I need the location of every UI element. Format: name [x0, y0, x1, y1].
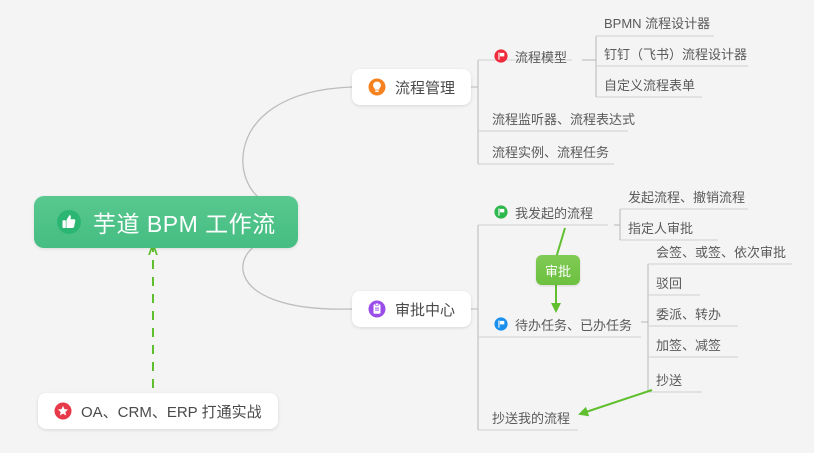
branch-node-process-management-label: 流程管理 [395, 77, 455, 98]
node-reject[interactable]: 驳回 [652, 270, 686, 294]
connector-root-to-approval-center [243, 238, 352, 309]
node-add-remove-sign[interactable]: 加签、减签 [652, 332, 725, 356]
node-cc-to-me-process[interactable]: 抄送我的流程 [488, 405, 574, 429]
node-designated-approver-label: 指定人审批 [628, 218, 693, 237]
node-custom-process-form-label: 自定义流程表单 [604, 75, 695, 94]
node-my-initiated-process-label: 我发起的流程 [515, 203, 593, 222]
callout-node-label: OA、CRM、ERP 打通实战 [81, 401, 262, 422]
lightbulb-icon [368, 78, 386, 96]
node-reject-label: 驳回 [656, 273, 682, 292]
node-start-cancel-process[interactable]: 发起流程、撤销流程 [624, 184, 749, 208]
thumbs-up-icon [56, 209, 82, 235]
branch-node-approval-center[interactable]: 审批中心 [352, 291, 471, 327]
root-node[interactable]: 芋道 BPM 工作流 [34, 196, 298, 248]
node-designated-approver[interactable]: 指定人审批 [624, 215, 697, 239]
flag-icon [494, 205, 508, 219]
mindmap-canvas: 芋道 BPM 工作流 OA、CRM、ERP 打通实战 流程管理 [0, 0, 814, 453]
root-node-label: 芋道 BPM 工作流 [93, 205, 276, 239]
arrow-cc-to-ccmine [580, 390, 652, 414]
annotation-tag-approval-label: 审批 [545, 261, 571, 280]
flag-icon [494, 49, 508, 63]
clipboard-icon [368, 300, 386, 318]
node-process-listener-expression-label: 流程监听器、流程表达式 [492, 109, 635, 128]
flag-icon [494, 317, 508, 331]
node-bpmn-designer[interactable]: BPMN 流程设计器 [600, 10, 714, 34]
branch-node-approval-center-label: 审批中心 [395, 299, 455, 320]
node-delegate-transfer[interactable]: 委派、转办 [652, 301, 725, 325]
node-start-cancel-process-label: 发起流程、撤销流程 [628, 187, 745, 206]
node-cc-label: 抄送 [656, 370, 682, 389]
node-add-remove-sign-label: 加签、减签 [656, 335, 721, 354]
node-process-listener-expression[interactable]: 流程监听器、流程表达式 [488, 106, 639, 130]
node-dingtalk-feishu-designer-label: 钉钉（飞书）流程设计器 [604, 44, 747, 63]
arrow-initiated-to-approval [556, 228, 565, 258]
node-custom-process-form[interactable]: 自定义流程表单 [600, 72, 699, 96]
annotation-tag-approval[interactable]: 审批 [536, 255, 580, 285]
node-process-model-label: 流程模型 [515, 47, 567, 66]
node-cc[interactable]: 抄送 [652, 367, 686, 391]
node-process-instance-task[interactable]: 流程实例、流程任务 [488, 139, 613, 163]
branch-node-process-management[interactable]: 流程管理 [352, 69, 471, 105]
node-cc-to-me-process-label: 抄送我的流程 [492, 408, 570, 427]
node-todo-done-tasks[interactable]: 待办任务、已办任务 [490, 312, 636, 336]
node-countersign-orsign-sequential-label: 会签、或签、依次审批 [656, 242, 786, 261]
node-bpmn-designer-label: BPMN 流程设计器 [604, 13, 710, 32]
connector-root-to-process-management [243, 87, 352, 206]
node-process-instance-task-label: 流程实例、流程任务 [492, 142, 609, 161]
node-todo-done-tasks-label: 待办任务、已办任务 [515, 315, 632, 334]
node-process-model[interactable]: 流程模型 [490, 44, 571, 68]
star-icon [54, 402, 72, 420]
callout-node-oa-crm-erp[interactable]: OA、CRM、ERP 打通实战 [38, 393, 278, 429]
node-delegate-transfer-label: 委派、转办 [656, 304, 721, 323]
node-dingtalk-feishu-designer[interactable]: 钉钉（飞书）流程设计器 [600, 41, 751, 65]
node-countersign-orsign-sequential[interactable]: 会签、或签、依次审批 [652, 239, 790, 263]
node-my-initiated-process[interactable]: 我发起的流程 [490, 200, 597, 224]
